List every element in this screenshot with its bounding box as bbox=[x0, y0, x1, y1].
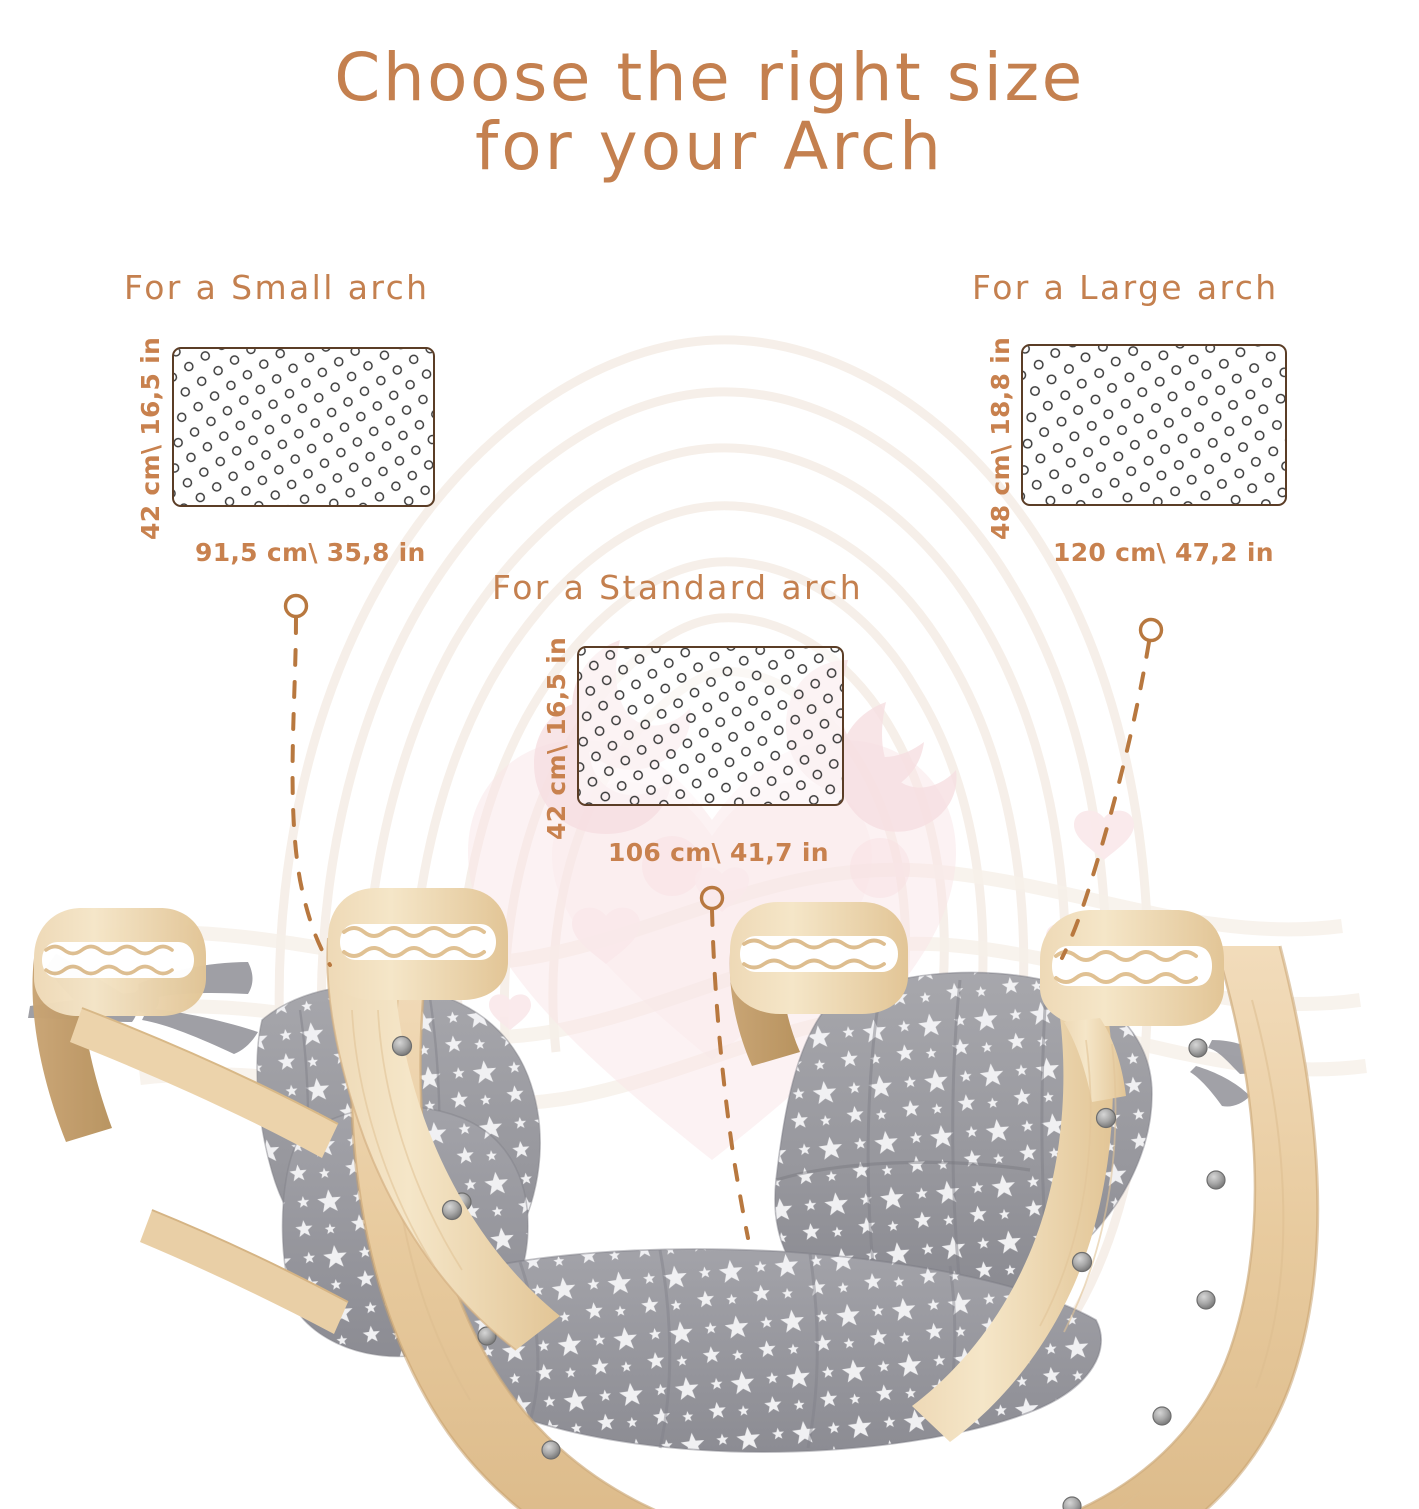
polka-dot-icon bbox=[172, 347, 435, 507]
page-title-line-2: for your Arch bbox=[0, 113, 1419, 182]
page-title-line-1: Choose the right size bbox=[0, 44, 1419, 113]
polka-dot-icon bbox=[1021, 344, 1287, 506]
dimension-height-large: 48 cm\ 18,8 in bbox=[986, 337, 1015, 540]
polka-dot-icon bbox=[577, 646, 844, 806]
dimension-height-standard: 42 cm\ 16,5 in bbox=[542, 637, 571, 840]
dimension-height-small: 42 cm\ 16,5 in bbox=[136, 337, 165, 540]
cushion-rect-large bbox=[1021, 344, 1287, 506]
cushion-rect-small bbox=[172, 347, 435, 507]
circle-endpoint-icon bbox=[286, 596, 307, 617]
section-heading-standard: For a Standard arch bbox=[492, 568, 863, 607]
page-title: Choose the right size for your Arch bbox=[0, 44, 1419, 181]
dimension-width-large: 120 cm\ 47,2 in bbox=[1053, 538, 1274, 567]
section-heading-small: For a Small arch bbox=[124, 268, 429, 307]
cushion-rect-standard bbox=[577, 646, 844, 806]
circle-endpoint-icon bbox=[1141, 620, 1162, 641]
dimension-width-standard: 106 cm\ 41,7 in bbox=[608, 838, 829, 867]
product-photo-arch-rocker bbox=[0, 880, 1419, 1509]
section-heading-large: For a Large arch bbox=[972, 268, 1279, 307]
infographic-canvas: Choose the right size for your Arch For … bbox=[0, 0, 1419, 1509]
dimension-width-small: 91,5 cm\ 35,8 in bbox=[195, 538, 426, 567]
